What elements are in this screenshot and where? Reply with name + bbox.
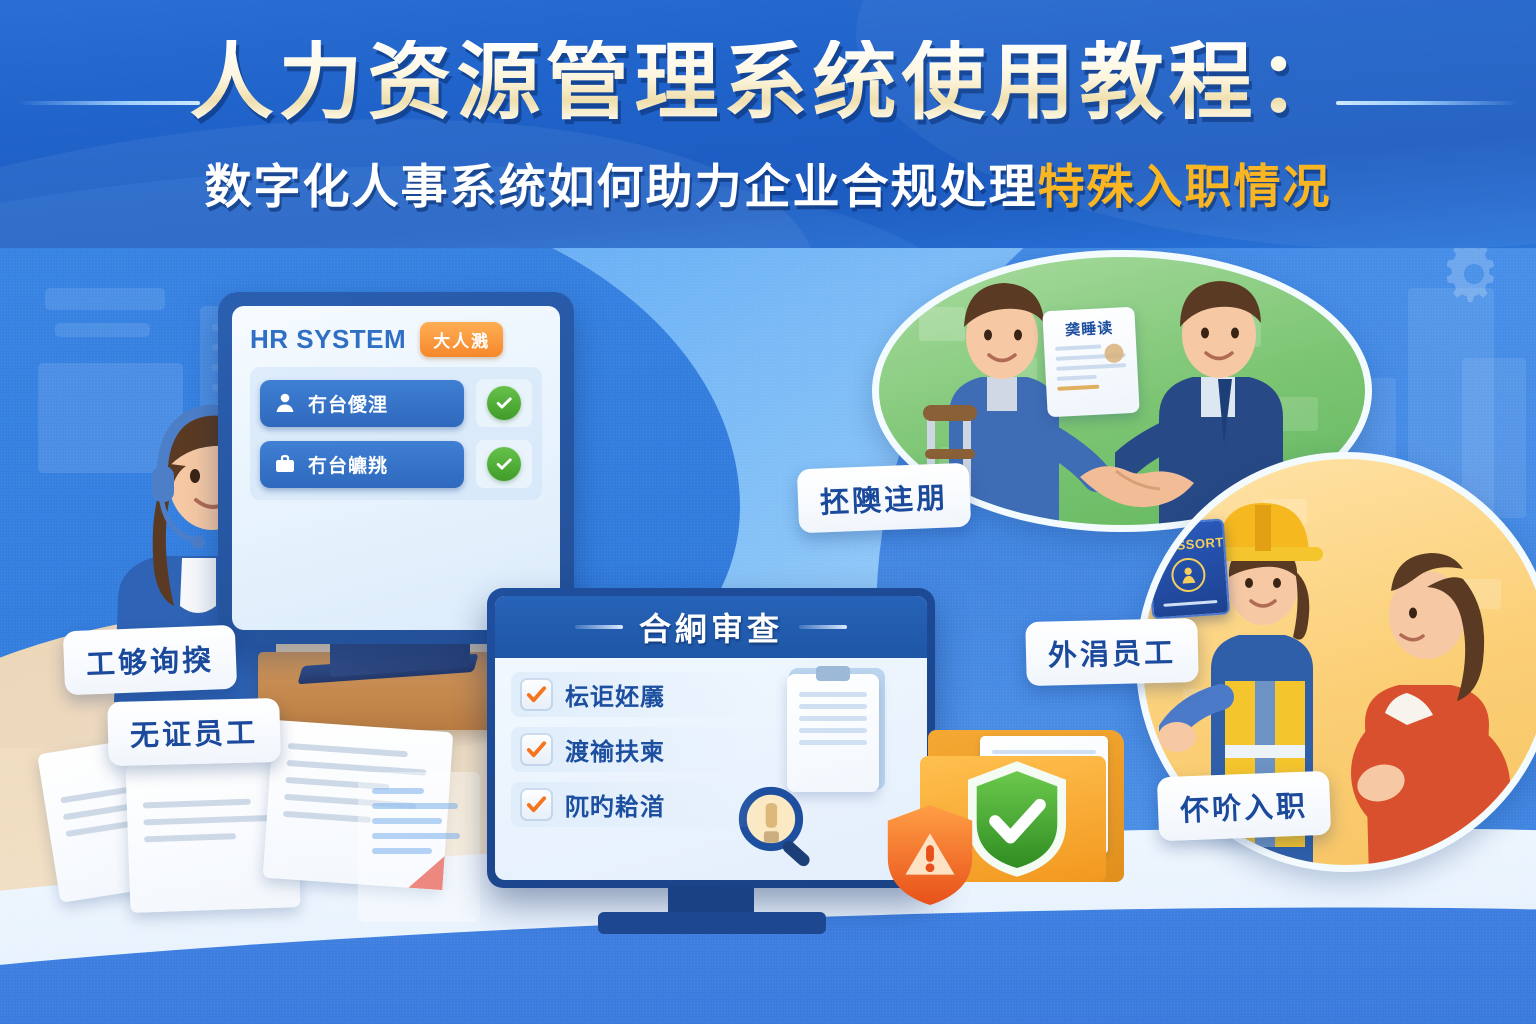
header-dash-right	[799, 625, 847, 629]
contract-stamp	[1104, 343, 1124, 363]
poster-header: 人力资源管理系统使用教程： 数字化人事系统如何助力企业合规处理特殊入职情况	[0, 0, 1536, 248]
checkbox-checked-icon	[520, 678, 553, 711]
compliance-title: 合絅审查	[639, 604, 783, 650]
hr-system-title: HR SYSTEM	[250, 324, 406, 355]
page-title: 人力资源管理系统使用教程：	[0, 40, 1536, 124]
compliance-item[interactable]: 枟讵㚰㕒	[511, 672, 761, 717]
gear-icon	[1438, 238, 1510, 310]
compliance-item-label: 阢旳耠渞	[565, 787, 665, 822]
contract-document: 䶮睡读	[1042, 307, 1139, 418]
check-circle-icon	[487, 447, 521, 481]
hr-system-rows: 冇台僾浬 冇台皫䍮	[250, 367, 542, 500]
infographic-poster: 䶮睡读	[0, 0, 1536, 1024]
hr-system-screen: HR SYSTEM 大人溅 冇台僾浬	[232, 306, 560, 630]
hr-status-cell	[476, 379, 532, 427]
hr-system-badge: 大人溅	[420, 322, 503, 357]
check-circle-icon	[487, 386, 521, 420]
hr-button-employment-record[interactable]: 冇台皫䍮	[260, 441, 464, 488]
bg-ornament-doc	[45, 288, 165, 310]
compliance-review-monitor: 合絅审查 枟讵㚰㕒	[487, 588, 935, 888]
passport-label: PASSSORT	[1149, 534, 1224, 554]
compliance-checklist: 枟讵㚰㕒 渡䄖扶柬 阢旳耠渞	[495, 658, 927, 841]
tag-foreign-staff[interactable]: 外涓员工	[1025, 618, 1199, 686]
tag-uncertified-staff[interactable]: 无证员工	[107, 698, 281, 766]
person-pregnant-employee	[1315, 487, 1536, 872]
compliance-item[interactable]: 阢旳耠渞	[511, 782, 761, 827]
shield-check-icon	[962, 758, 1072, 880]
user-icon	[273, 391, 297, 415]
hr-button-label: 冇台僾浬	[308, 390, 388, 417]
page-subtitle: 数字化人事系统如何助力企业合规处理特殊入职情况	[0, 163, 1536, 210]
tag-pregnant-onboarding[interactable]: 伓吤入职	[1157, 771, 1331, 842]
passport-emblem-icon	[1170, 557, 1206, 593]
briefcase-icon	[273, 452, 297, 476]
hr-button-employee-profile[interactable]: 冇台僾浬	[260, 380, 464, 427]
hr-status-cell	[476, 440, 532, 488]
compliance-item[interactable]: 渡䄖扶柬	[511, 727, 761, 772]
compliance-item-label: 枟讵㚰㕒	[565, 677, 665, 712]
folder-group	[920, 730, 1132, 890]
page-subtitle-main: 数字化人事系统如何助力企业合规处理	[205, 160, 1038, 213]
tag-recovery-proof[interactable]: 抷隩迬朋	[797, 463, 971, 534]
header-dash-left	[575, 625, 623, 629]
checkbox-checked-icon	[520, 788, 553, 821]
contract-title: 䶮睡读	[1043, 316, 1136, 342]
ghost-document	[358, 772, 480, 922]
page-subtitle-highlight: 特殊入职情况	[1038, 160, 1332, 213]
compliance-item-label: 渡䄖扶柬	[565, 732, 665, 767]
hr-system-header: HR SYSTEM 大人溅	[250, 322, 542, 357]
monitor-stand-base	[598, 912, 826, 934]
compliance-header: 合絅审查	[495, 596, 927, 658]
tag-work-injury[interactable]: 工够询揬	[63, 625, 237, 696]
bg-ornament-doc	[55, 323, 150, 337]
hr-button-label: 冇台皫䍮	[308, 451, 388, 478]
checkbox-checked-icon	[520, 733, 553, 766]
passport-document: PASSSORT	[1146, 518, 1231, 619]
hr-system-row: 冇台皫䍮	[260, 440, 532, 488]
compliance-screen: 合絅审查 枟讵㚰㕒	[495, 596, 927, 880]
hr-system-row: 冇台僾浬	[260, 379, 532, 427]
